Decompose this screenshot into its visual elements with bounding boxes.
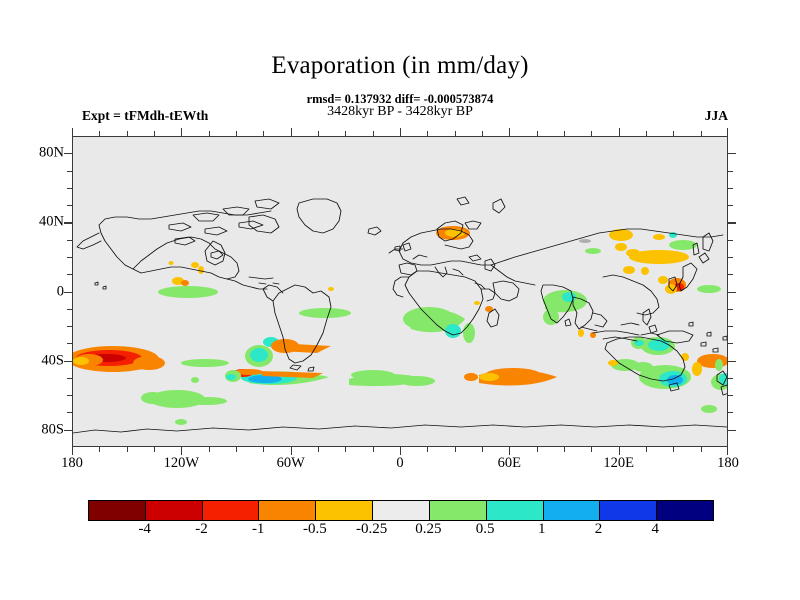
- xtick-label-60e: 60E: [474, 455, 544, 472]
- cbar-tick-3: -0.5: [285, 521, 345, 538]
- season-label: JJA: [705, 108, 728, 124]
- ytick-label-40n: 40N: [4, 214, 64, 231]
- xtick-label-60w: 60W: [256, 455, 326, 472]
- xtick-label-0: 0: [365, 455, 435, 472]
- colorbar-swatch-0: [89, 501, 145, 520]
- colorbar[interactable]: [88, 500, 714, 521]
- cbar-tick-5: 0.25: [398, 521, 458, 538]
- colorbar-swatch-4: [315, 501, 372, 520]
- colorbar-swatch-9: [599, 501, 656, 520]
- xtick-label-120w: 120W: [146, 455, 216, 472]
- xtick-label-180w: 180: [37, 455, 107, 472]
- cbar-tick-2: -1: [228, 521, 288, 538]
- cbar-tick-8: 2: [569, 521, 629, 538]
- cbar-tick-9: 4: [625, 521, 685, 538]
- colorbar-swatch-3: [258, 501, 315, 520]
- axis-tick-layer: [72, 136, 728, 447]
- cbar-tick-1: -2: [172, 521, 232, 538]
- cbar-tick-4: -0.25: [342, 521, 402, 538]
- colorbar-swatch-2: [202, 501, 259, 520]
- colorbar-swatch-10: [656, 501, 713, 520]
- ytick-label-80s: 80S: [4, 421, 64, 438]
- ytick-label-80n: 80N: [4, 145, 64, 162]
- colorbar-swatch-1: [145, 501, 202, 520]
- cbar-tick-7: 1: [512, 521, 572, 538]
- cbar-tick-0: -4: [115, 521, 175, 538]
- cbar-tick-6: 0.5: [455, 521, 515, 538]
- experiment-label: Expt = tFMdh-tEWth: [82, 108, 208, 124]
- page-title: Evaporation (in mm/day): [0, 52, 800, 80]
- colorbar-swatch-5: [372, 501, 429, 520]
- colorbar-swatch-6: [429, 501, 486, 520]
- colorbar-tick-labels: -4 -2 -1 -0.5 -0.25 0.25 0.5 1 2 4: [88, 521, 712, 543]
- xtick-label-120e: 120E: [584, 455, 654, 472]
- xtick-label-180e: 180: [693, 455, 763, 472]
- figure-canvas: Evaporation (in mm/day) rmsd= 0.137932 d…: [0, 0, 800, 600]
- ytick-label-0: 0: [4, 283, 64, 300]
- ytick-label-40s: 40S: [4, 352, 64, 369]
- colorbar-swatch-7: [486, 501, 543, 520]
- colorbar-swatch-8: [543, 501, 600, 520]
